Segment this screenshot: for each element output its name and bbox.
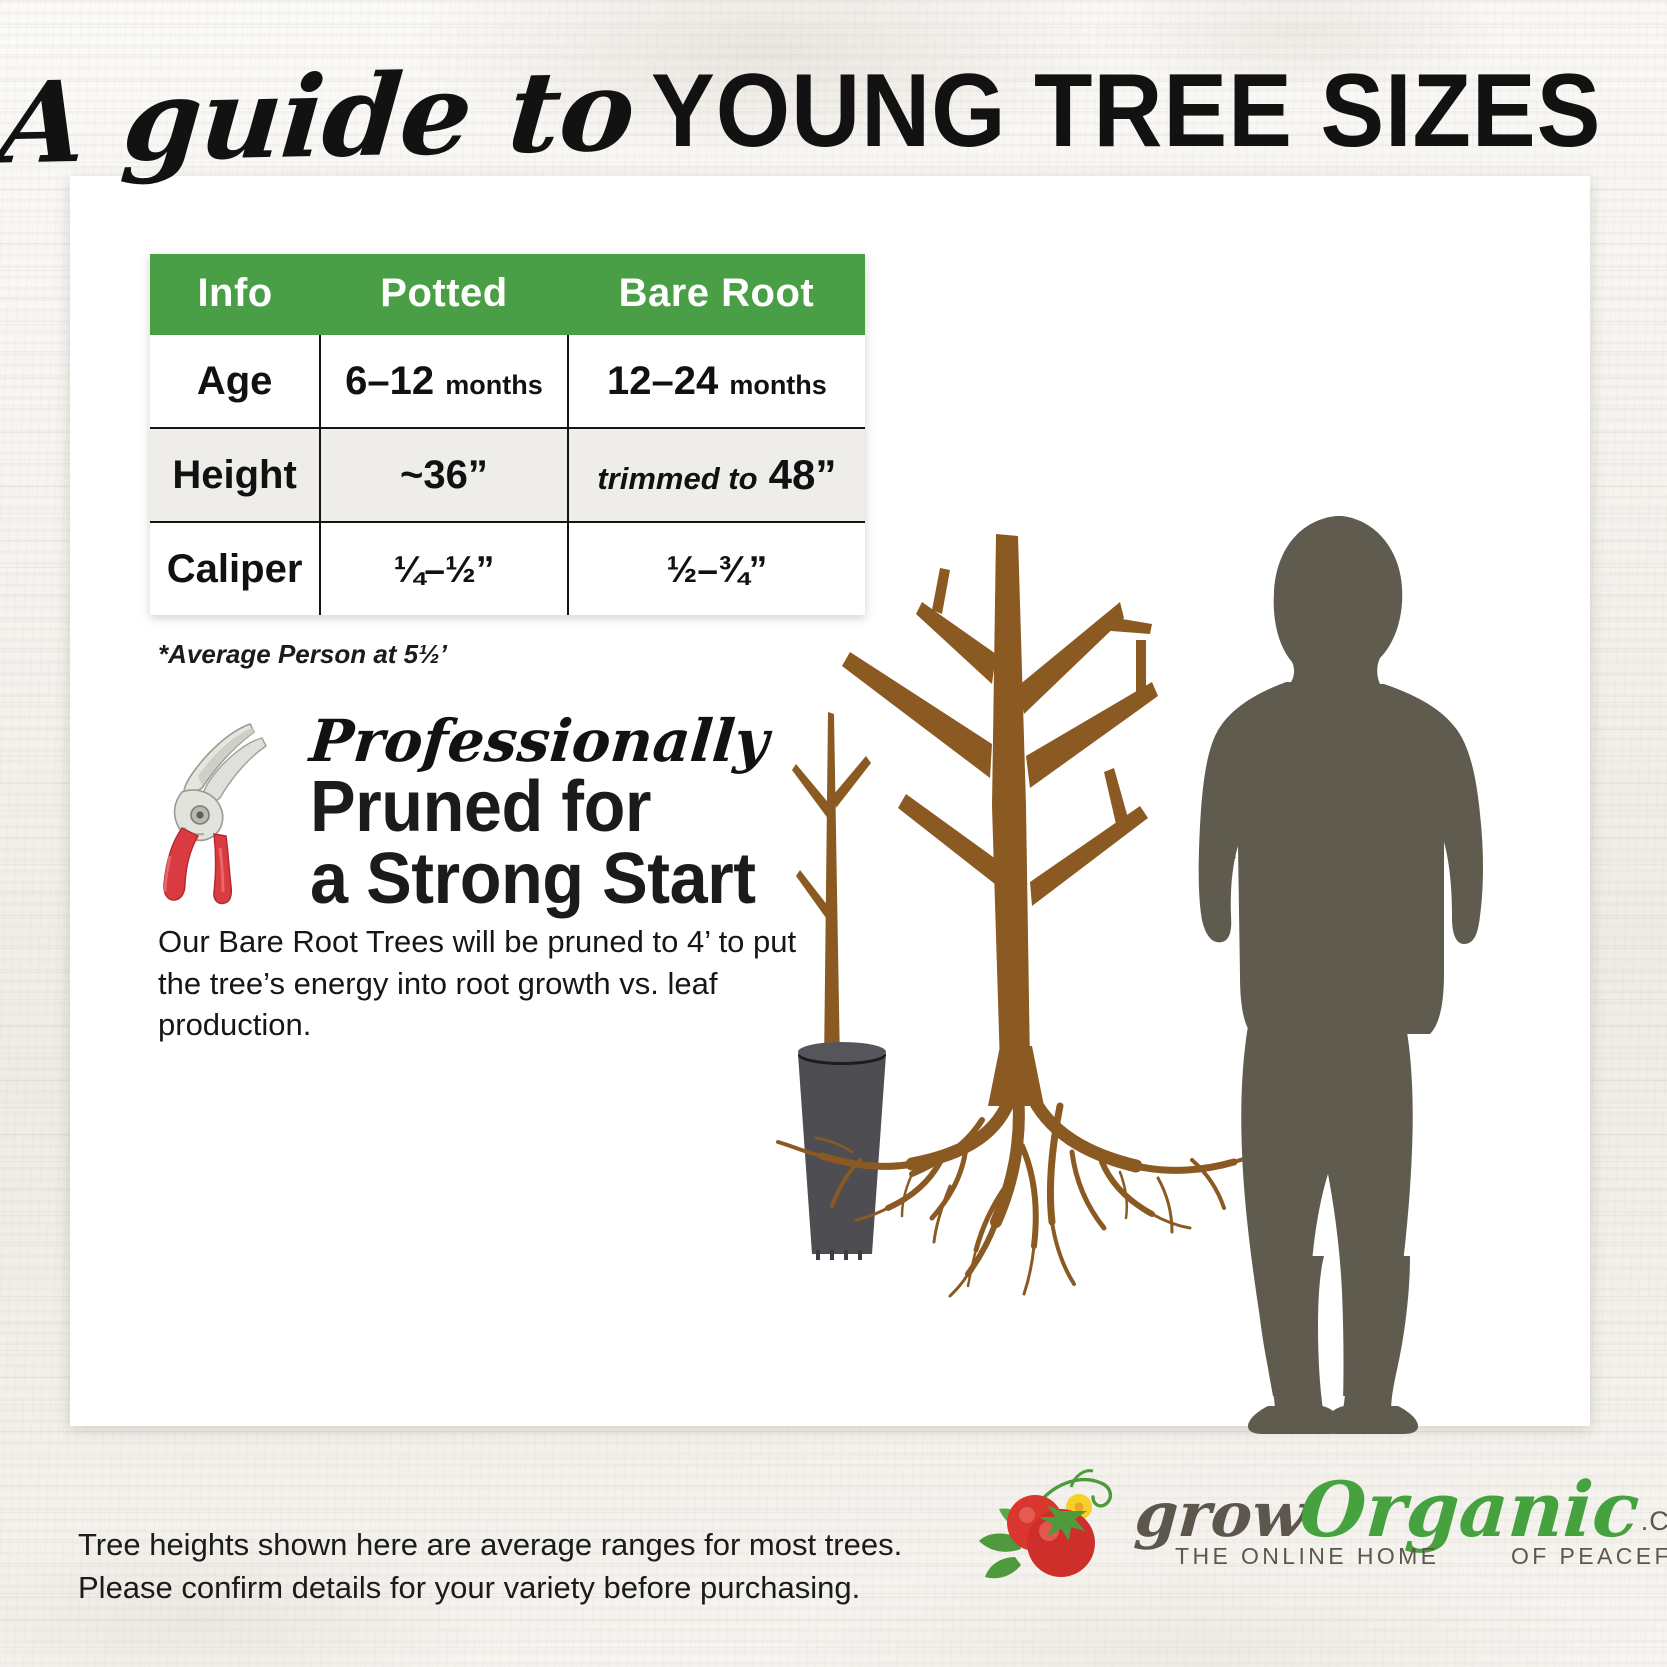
logo-wordmark: growOrganic.COM — [1135, 1465, 1667, 1554]
grow-organic-logo[interactable]: growOrganic.COM THE ONLINE HOME OF PEACE… — [975, 1455, 1595, 1605]
cell-height-bare-prefix: trimmed to — [597, 461, 757, 496]
cell-age-potted-value: 6–12 — [345, 359, 434, 403]
logo-tagline: THE ONLINE HOME OF PEACEFUL VALLEY — [1175, 1543, 1667, 1570]
cell-caliper-potted-value: ¼–½” — [394, 549, 495, 590]
table-row: Age 6–12 months 12–24 months — [150, 335, 865, 428]
row-label-height: Height — [150, 428, 320, 522]
cell-age-bare-unit: months — [729, 370, 827, 400]
footer-note-line1: Tree heights shown here are average rang… — [78, 1523, 902, 1566]
cell-age-bare-value: 12–24 — [607, 359, 718, 403]
footer-note: Tree heights shown here are average rang… — [78, 1523, 902, 1610]
column-header-potted: Potted — [320, 254, 568, 335]
logo-dotcom-text: .COM — [1641, 1506, 1667, 1537]
cell-caliper-potted: ¼–½” — [320, 522, 568, 615]
logo-organic-text: Organic — [1297, 1465, 1642, 1554]
pruning-shears-icon — [158, 716, 288, 906]
footer-note-line2: Please confirm details for your variety … — [78, 1566, 902, 1609]
column-header-bare-root: Bare Root — [568, 254, 865, 335]
row-label-age: Age — [150, 335, 320, 428]
cell-height-bare-value: 48” — [769, 451, 837, 498]
cell-age-potted: 6–12 months — [320, 335, 568, 428]
cell-age-potted-unit: months — [445, 370, 543, 400]
logo-tagline-left: THE ONLINE HOME — [1175, 1543, 1439, 1569]
cell-age-bare: 12–24 months — [568, 335, 865, 428]
table-footnote: *Average Person at 5½’ — [158, 639, 447, 670]
column-header-info: Info — [150, 254, 320, 335]
potted-tree-illustration — [792, 712, 886, 1260]
cell-height-potted: ~36” — [320, 428, 568, 522]
row-label-caliper: Caliper — [150, 522, 320, 615]
logo-tagline-right: OF PEACEFUL VALLEY — [1511, 1543, 1667, 1569]
content-card: Info Potted Bare Root Age 6–12 months 12… — [70, 176, 1590, 1426]
person-legs-boots — [700, 1256, 1580, 1436]
tomato-icon — [975, 1461, 1145, 1591]
logo-grow-text: grow — [1132, 1478, 1308, 1551]
table-header-row: Info Potted Bare Root — [150, 254, 865, 335]
